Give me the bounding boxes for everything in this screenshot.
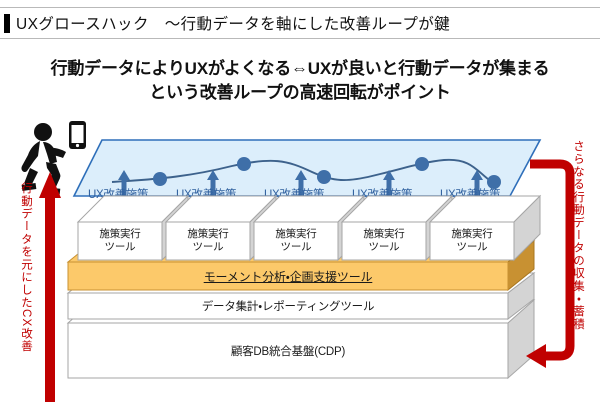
layer-stack <box>0 110 600 415</box>
slide: UXグロースハック 〜行動データを軸にした改善ループが鍵 行動データによりUXが… <box>0 0 600 415</box>
tool-box-label-1: 施策実行 ツール <box>78 228 162 254</box>
page-title: UXグロースハック 〜行動データを軸にした改善ループが鍵 <box>16 12 450 34</box>
architecture-diagram: UX改善施策 UX改善施策 UX改善施策 UX改善施策 UX改善施策 <box>0 110 600 415</box>
tool-box-label-3-line2: ツール <box>281 241 312 253</box>
layer-label-moment: モーメント分析・企画支援ツール <box>68 268 508 285</box>
tool-box-label-2-line2: ツール <box>193 241 224 253</box>
headline-line-1: 行動データによりUXがよくなる⇔UXが良いと行動データが集まる <box>0 57 600 81</box>
tool-box-label-3-line1: 施策実行 <box>275 228 316 240</box>
left-feedback-arrow-icon <box>38 172 62 402</box>
tool-box-label-1-line2: ツール <box>105 241 136 253</box>
right-rail-label: さらなる行動データの収集・蓄積 <box>570 140 586 331</box>
left-rail-label: 行動データを元にしたCX改善 <box>18 182 34 353</box>
tool-box-label-5: 施策実行 ツール <box>430 228 514 254</box>
tool-box-label-1-line1: 施策実行 <box>99 228 140 240</box>
tool-box-label-4: 施策実行 ツール <box>342 228 426 254</box>
tool-box-label-4-line2: ツール <box>369 241 400 253</box>
tool-box-label-2: 施策実行 ツール <box>166 228 250 254</box>
tool-box-label-2-line1: 施策実行 <box>187 228 228 240</box>
headline-line-2: という改善ループの高速回転がポイント <box>0 81 600 105</box>
title-accent-bar <box>4 14 10 33</box>
layer-label-cdp: 顧客DB統合基盤(CDP) <box>68 343 508 359</box>
tool-box-label-5-line1: 施策実行 <box>451 228 492 240</box>
tool-box-label-3: 施策実行 ツール <box>254 228 338 254</box>
slide-title-bar: UXグロースハック 〜行動データを軸にした改善ループが鍵 <box>0 7 600 39</box>
right-feedback-arrow-icon <box>520 150 576 380</box>
tool-box-label-5-line2: ツール <box>457 241 488 253</box>
tool-box-label-4-line1: 施策実行 <box>363 228 404 240</box>
headline: 行動データによりUXがよくなる⇔UXが良いと行動データが集まる という改善ループ… <box>0 57 600 105</box>
layer-label-reporting: データ集計・レポーティングツール <box>68 298 508 314</box>
